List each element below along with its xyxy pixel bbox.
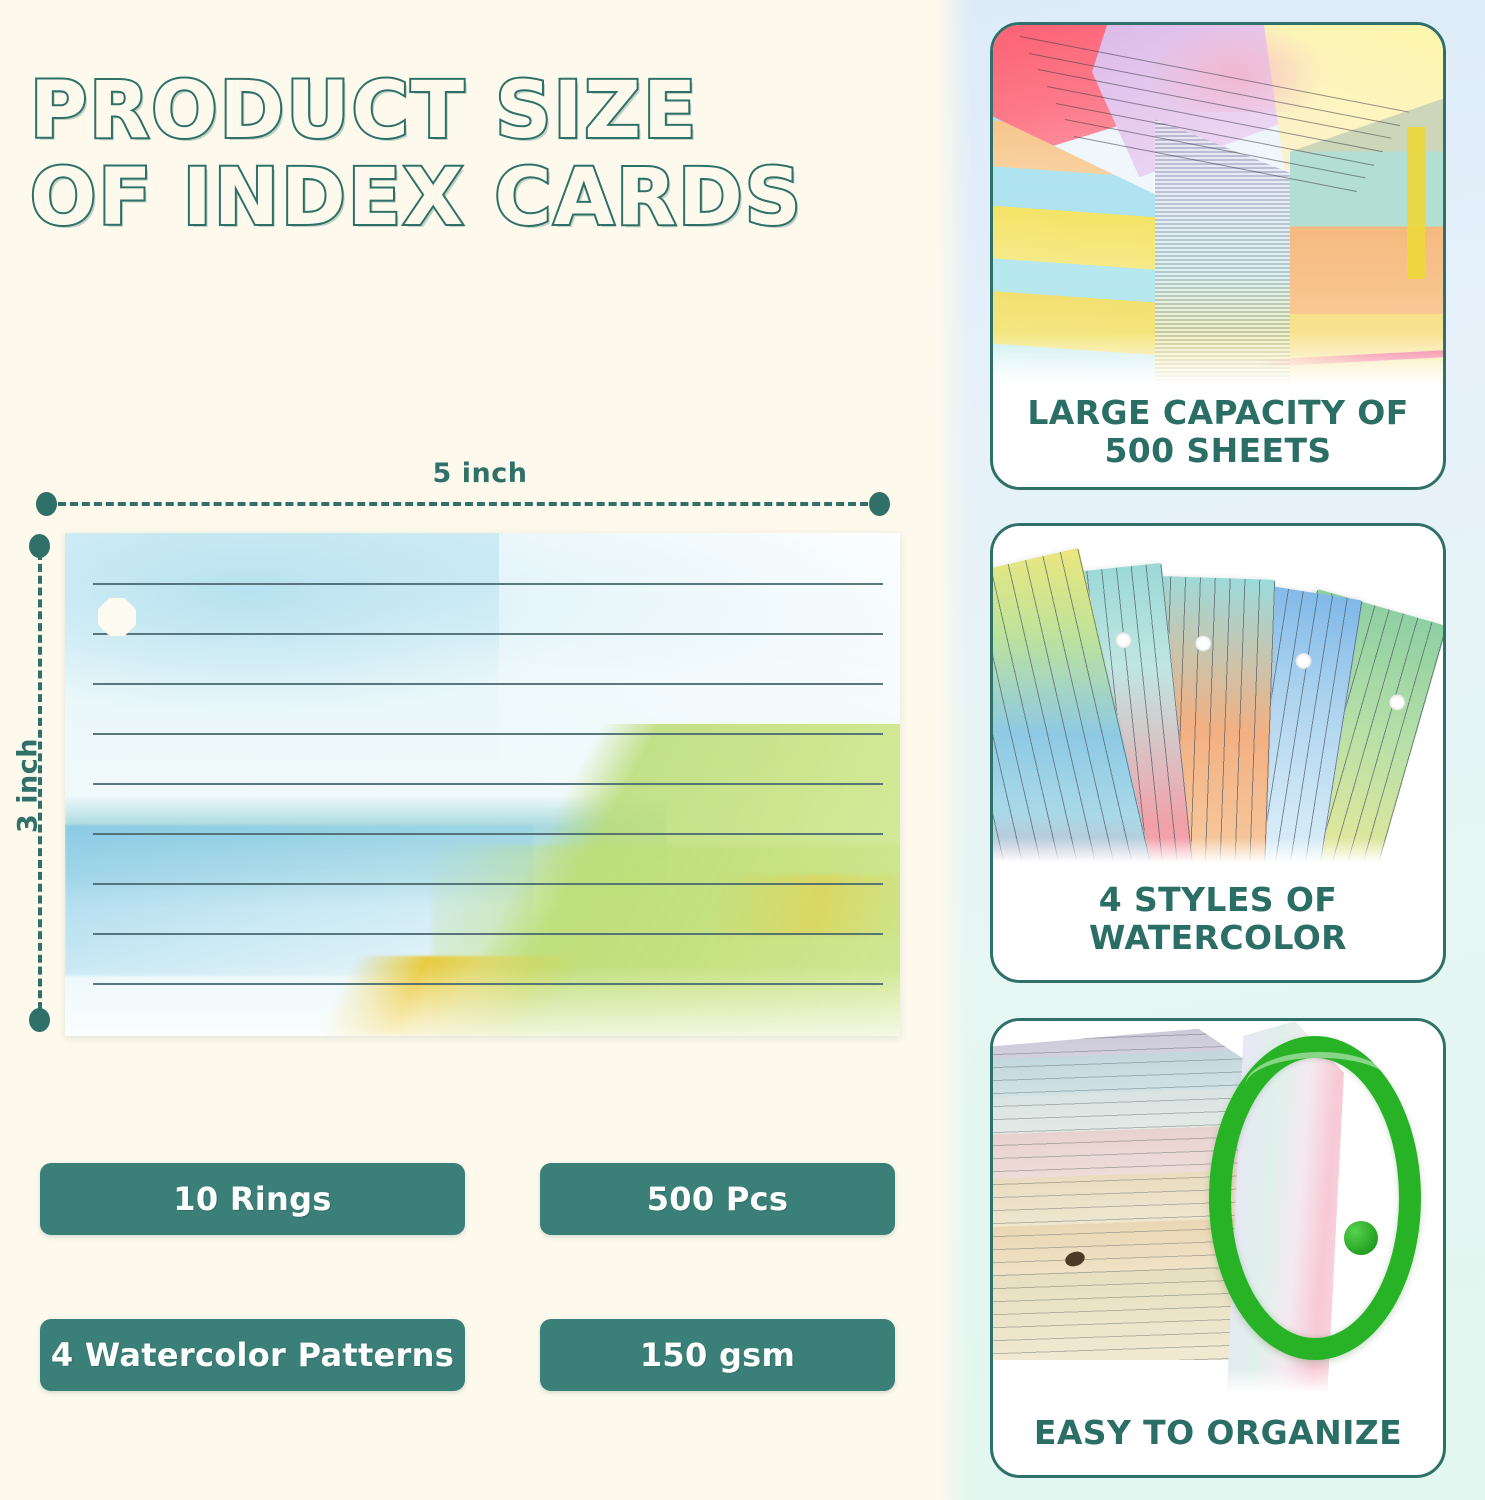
panel-organize-caption: EASY TO ORGANIZE: [993, 1406, 1443, 1475]
index-card-rule-line: [93, 983, 883, 985]
width-dimension-line: [46, 502, 880, 506]
binder-ring-photo: [993, 1021, 1443, 1406]
panel-organize-caption-line-1: EASY TO ORGANIZE: [1003, 1414, 1433, 1453]
panel-capacity-caption-line-1: LARGE CAPACITY OF: [1003, 394, 1433, 433]
stack-top-pink-wash: [1146, 25, 1326, 112]
index-card-rule-line: [93, 633, 883, 635]
card-bottom-fade: [65, 966, 900, 1036]
feature-panel-styles[interactable]: 4 STYLES OF WATERCOLOR: [990, 523, 1446, 983]
index-card-rule-line: [93, 833, 883, 835]
index-card-rule-line: [93, 733, 883, 735]
panel-capacity-caption-line-2: 500 SHEETS: [1003, 432, 1433, 471]
index-card-rule-line: [93, 683, 883, 685]
index-card-rule-line: [93, 883, 883, 885]
feature-panel-organize[interactable]: EASY TO ORGANIZE: [990, 1018, 1446, 1478]
panel-styles-caption-line-2: WATERCOLOR: [1003, 919, 1433, 958]
width-endpoint-right-dot: [869, 492, 890, 516]
panel-styles-caption: 4 STYLES OF WATERCOLOR: [993, 873, 1443, 980]
feature-badge-pieces[interactable]: 500 Pcs: [540, 1163, 895, 1235]
rainbow-card-stack-photo: [993, 25, 1443, 388]
feature-badge-patterns[interactable]: 4 Watercolor Patterns: [40, 1319, 465, 1391]
index-card-sample: [65, 533, 900, 1036]
feature-badge-rings[interactable]: 10 Rings: [40, 1163, 465, 1235]
product-size-diagram: 5 inch 3 inch: [0, 0, 937, 1110]
index-card-rule-line: [93, 783, 883, 785]
height-endpoint-bottom-dot: [29, 1008, 50, 1032]
width-dimension-label: 5 inch: [380, 458, 580, 489]
punch-hole-icon: [1195, 634, 1212, 651]
index-card-rule-line: [93, 933, 883, 935]
stack-bottom-fade: [993, 333, 1443, 387]
panel-capacity-caption: LARGE CAPACITY OF 500 SHEETS: [993, 388, 1443, 487]
punch-hole-icon: [98, 598, 136, 636]
feature-badge-weight[interactable]: 150 gsm: [540, 1319, 895, 1391]
fan-bottom-fade: [993, 838, 1443, 873]
height-endpoint-top-dot: [29, 534, 50, 558]
fanned-cards-photo: [993, 526, 1443, 873]
index-card-rule-line: [93, 583, 883, 585]
width-endpoint-left-dot: [36, 492, 57, 516]
feature-panel-capacity[interactable]: LARGE CAPACITY OF 500 SHEETS: [990, 22, 1446, 490]
ring-bottom-fade: [993, 1368, 1443, 1407]
panel-styles-caption-line-1: 4 STYLES OF: [1003, 881, 1433, 920]
stack-yellow-divider: [1407, 127, 1425, 279]
height-dimension-line: [38, 552, 42, 1022]
binder-ring-highlight: [1245, 1052, 1394, 1121]
